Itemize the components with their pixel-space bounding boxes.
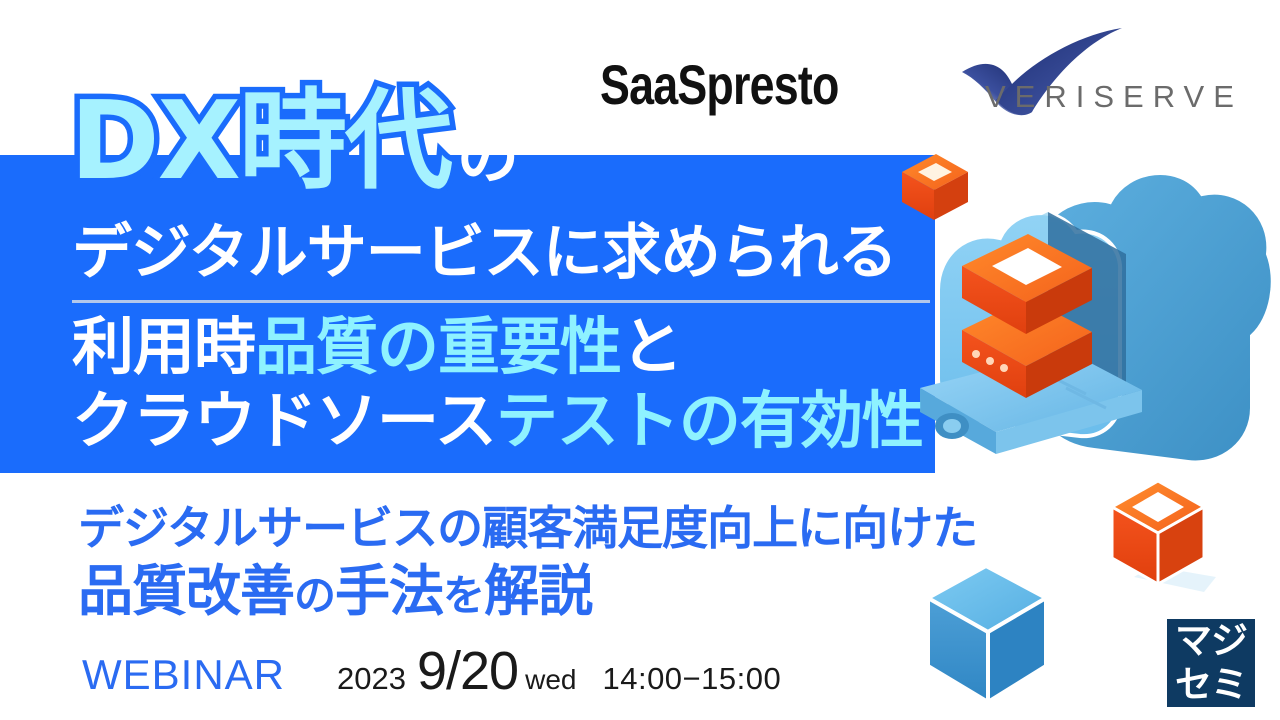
subtitle-line-2-c: 手法 (335, 559, 443, 623)
subtitle-line-2-a: 品質改善 (78, 559, 294, 623)
subtitle-line-2-d: を (443, 571, 484, 620)
event-year: 2023 (337, 661, 406, 697)
title-line-2: デジタルサービスに求められる (72, 222, 897, 285)
event-format-label: WEBINAR (82, 651, 285, 699)
blue-cube (928, 566, 1046, 702)
subtitle-line-2: 品質改善の手法を解説 (78, 546, 592, 626)
title-line-1-main: DX時代 (70, 79, 451, 204)
subtitle-line-2-e: 解説 (484, 559, 592, 623)
title-line-1-suffix: の (457, 120, 519, 193)
orange-cube (1112, 481, 1216, 592)
event-info-row: WEBINAR20239/20wed14:00−15:00 (82, 640, 781, 696)
event-day-of-week: wed (525, 664, 576, 696)
event-month-day: 9/20 (417, 640, 518, 702)
majiseni-logo-line-2: セミ (1167, 663, 1255, 707)
title-line-1: DX時代の (70, 88, 519, 196)
majiseni-logo-line-1: マジ (1167, 619, 1255, 663)
title-line-4-a: クラウドソース (72, 384, 496, 457)
title-block: DX時代の デジタルサービスに求められる 利用時品質の重要性と クラウドソーステ… (0, 0, 980, 480)
veriserve-logo-text: VERISERVE (985, 79, 1243, 115)
title-line-3-c: と (621, 310, 682, 383)
title-line-3-highlight: 品質の重要性 (255, 310, 621, 383)
title-line-4-highlight: テストの有効性 (496, 384, 923, 457)
title-line-4: クラウドソーステストの有効性 (72, 388, 923, 453)
title-line-3: 利用時品質の重要性と (72, 314, 682, 379)
title-line-3-a: 利用時 (72, 310, 255, 383)
event-time-range: 14:00−15:00 (602, 661, 781, 697)
majiseni-logo-badge: マジ セミ (1167, 619, 1255, 707)
poster-canvas: SaaSpresto VERISERVE DX時代の デジタルサービ (0, 0, 1280, 720)
subtitle-line-2-b: の (294, 571, 335, 620)
title-divider-rule (72, 300, 930, 303)
